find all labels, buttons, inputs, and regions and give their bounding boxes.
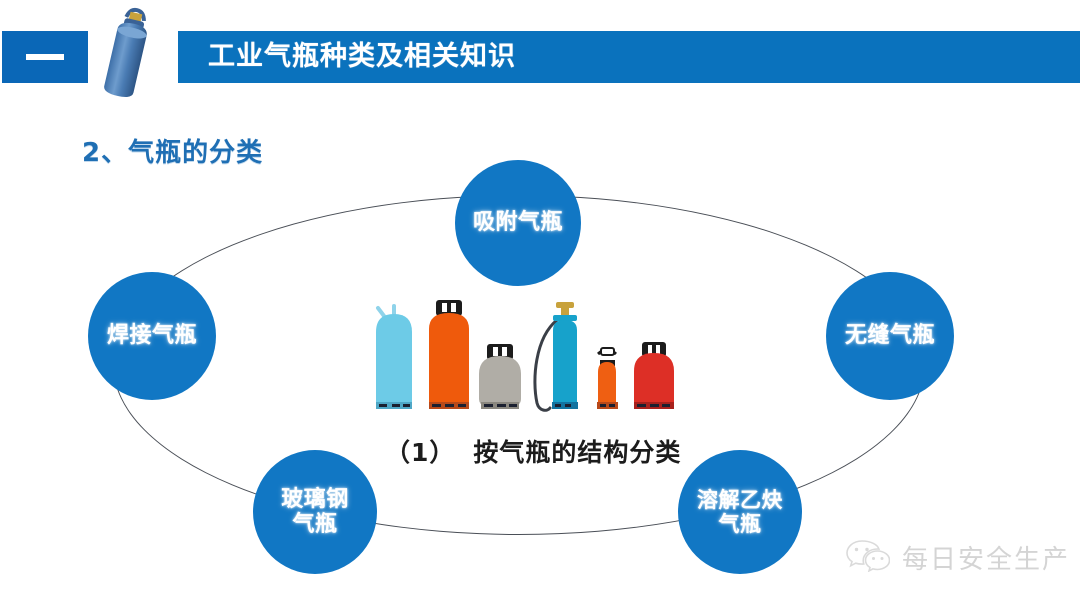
red-cylinder: [634, 342, 674, 409]
gas-cylinder-photo-icon: [92, 2, 162, 107]
teal-cylinder-with-hose: [535, 302, 578, 410]
node-label: 焊接气瓶: [107, 323, 197, 348]
slide-canvas: 工业气瓶种类及相关知识 2、气瓶的分类 吸附气瓶 焊接气瓶 无缝气瓶 玻璃钢气瓶…: [0, 0, 1080, 608]
watermark-text: 每日安全生产: [902, 539, 1070, 576]
wechat-icon: [846, 538, 890, 576]
node-label: 溶解乙炔气瓶: [697, 488, 783, 536]
diagram-node-dissolved-acetylene-cylinder[interactable]: 溶解乙炔气瓶: [678, 450, 802, 574]
diagram-node-welded-cylinder[interactable]: 焊接气瓶: [88, 272, 216, 400]
caption-text: 按气瓶的结构分类: [473, 438, 681, 467]
node-label: 无缝气瓶: [845, 323, 935, 348]
orange-tall-cylinder: [429, 300, 469, 409]
cylinder-illustration-group: [372, 298, 688, 418]
header-badge-label: [26, 54, 64, 60]
header-section-badge: [2, 31, 88, 83]
watermark: 每日安全生产: [846, 538, 1070, 576]
orange-small-cylinder: [597, 348, 618, 409]
gray-cylinder: [479, 344, 521, 409]
node-label: 吸附气瓶: [473, 210, 563, 235]
diagram-node-adsorption-cylinder[interactable]: 吸附气瓶: [455, 160, 581, 286]
light-blue-small-cylinder: [376, 306, 412, 409]
caption-number: （1）: [385, 438, 455, 467]
page-title: 工业气瓶种类及相关知识: [208, 40, 516, 74]
node-label: 玻璃钢气瓶: [281, 487, 349, 538]
diagram-node-seamless-cylinder[interactable]: 无缝气瓶: [826, 272, 954, 400]
diagram-caption: （1）按气瓶的结构分类: [385, 433, 681, 469]
section-subtitle: 2、气瓶的分类: [82, 132, 263, 169]
diagram-node-frp-cylinder[interactable]: 玻璃钢气瓶: [253, 450, 377, 574]
